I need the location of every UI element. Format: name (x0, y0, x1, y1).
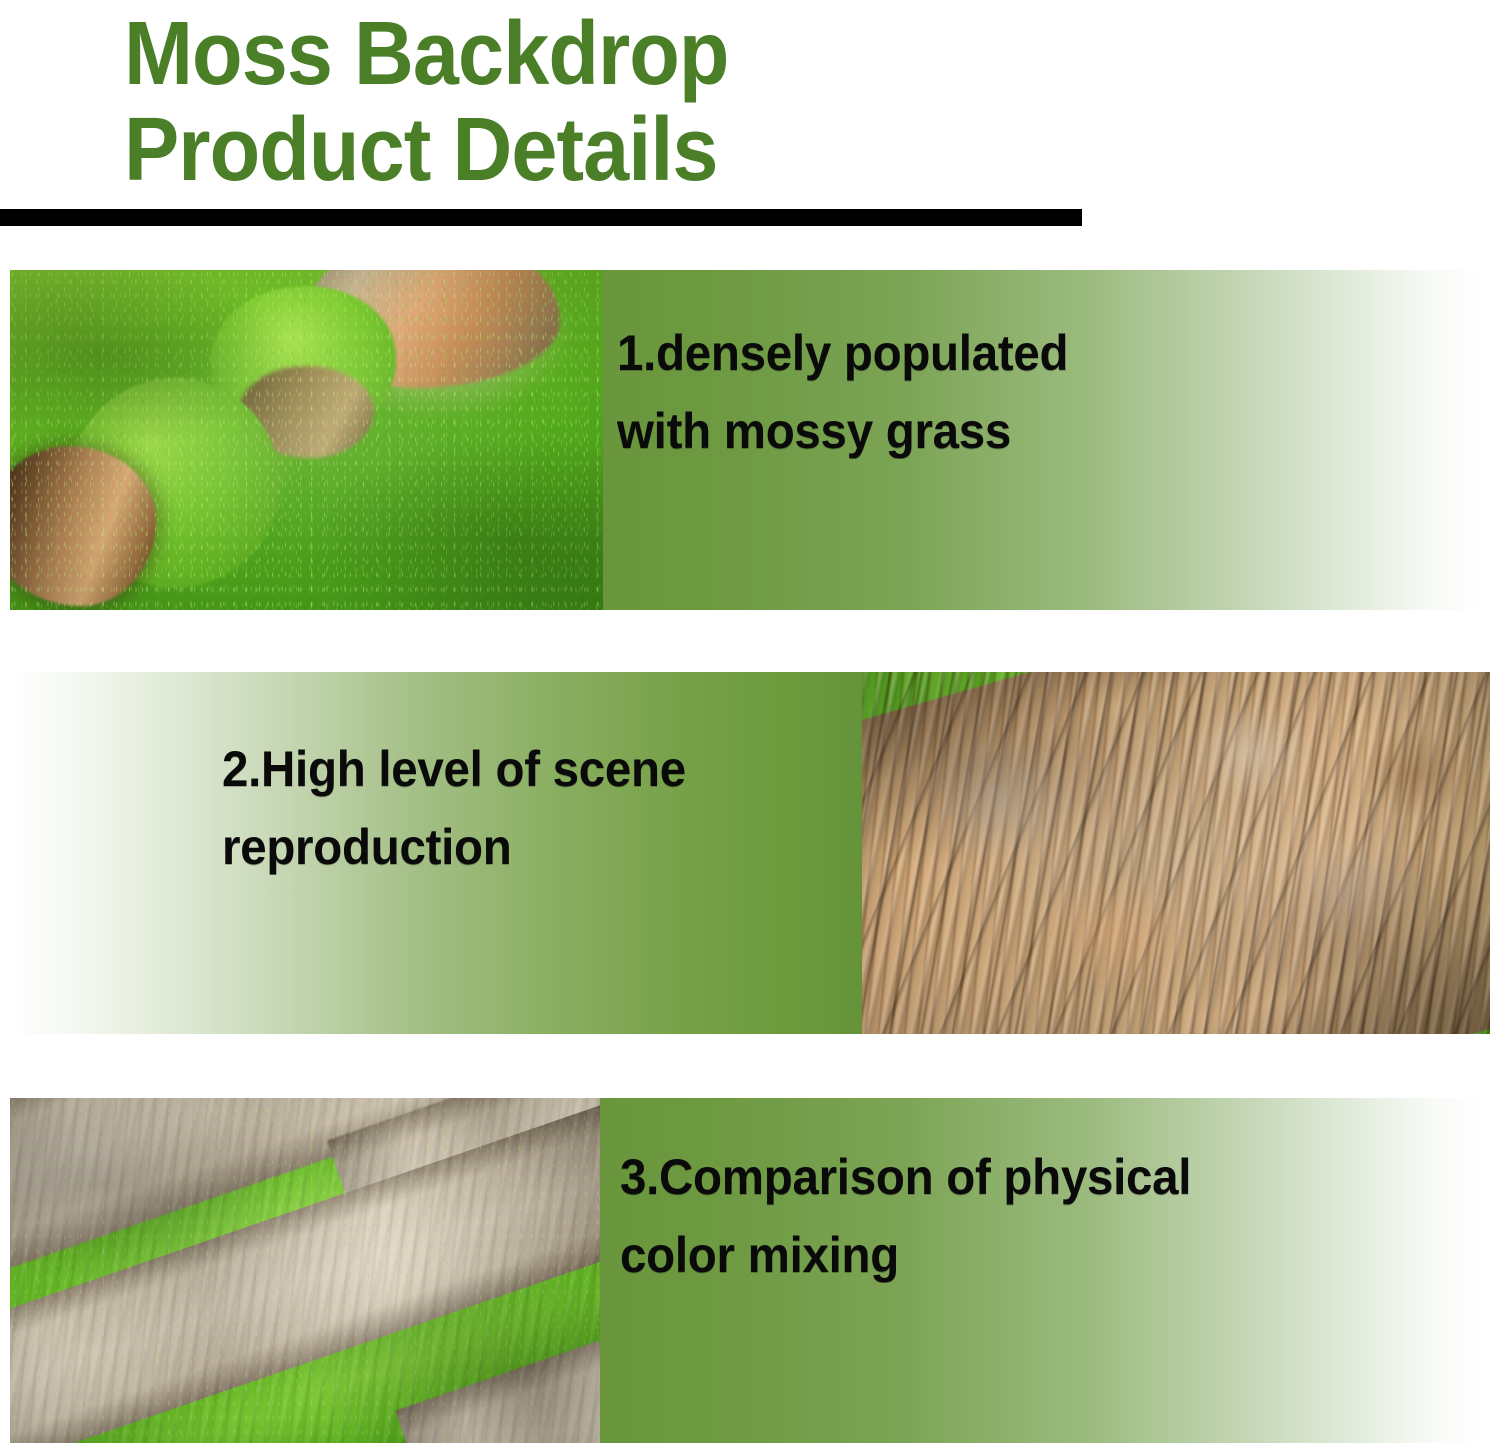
header: Moss Backdrop Product Details (0, 0, 1490, 232)
photo-vignette (10, 270, 603, 610)
photo-vignette (862, 672, 1490, 1034)
feature-row-2: 2.High level of scene reproduction (10, 672, 1490, 1034)
feature-1-photo (10, 270, 603, 610)
page-title: Moss Backdrop Product Details (124, 6, 1026, 198)
product-details-infographic: Moss Backdrop Product Details 1.densely … (0, 0, 1490, 1443)
feature-1-caption: 1.densely populated with mossy grass (617, 314, 1068, 470)
feature-row-3: 3.Comparison of physical color mixing (10, 1098, 1490, 1443)
feature-3-photo (10, 1098, 600, 1443)
feature-row-1: 1.densely populated with mossy grass (10, 270, 1490, 610)
feature-3-text-panel: 3.Comparison of physical color mixing (600, 1098, 1490, 1443)
feature-1-text-panel: 1.densely populated with mossy grass (603, 270, 1490, 610)
feature-3-caption: 3.Comparison of physical color mixing (620, 1138, 1191, 1294)
feature-2-caption: 2.High level of scene reproduction (222, 730, 686, 886)
photo-vignette (10, 1098, 600, 1443)
feature-2-text-panel: 2.High level of scene reproduction (10, 672, 862, 1034)
title-underline-rule (0, 209, 1082, 226)
feature-2-photo (862, 672, 1490, 1034)
